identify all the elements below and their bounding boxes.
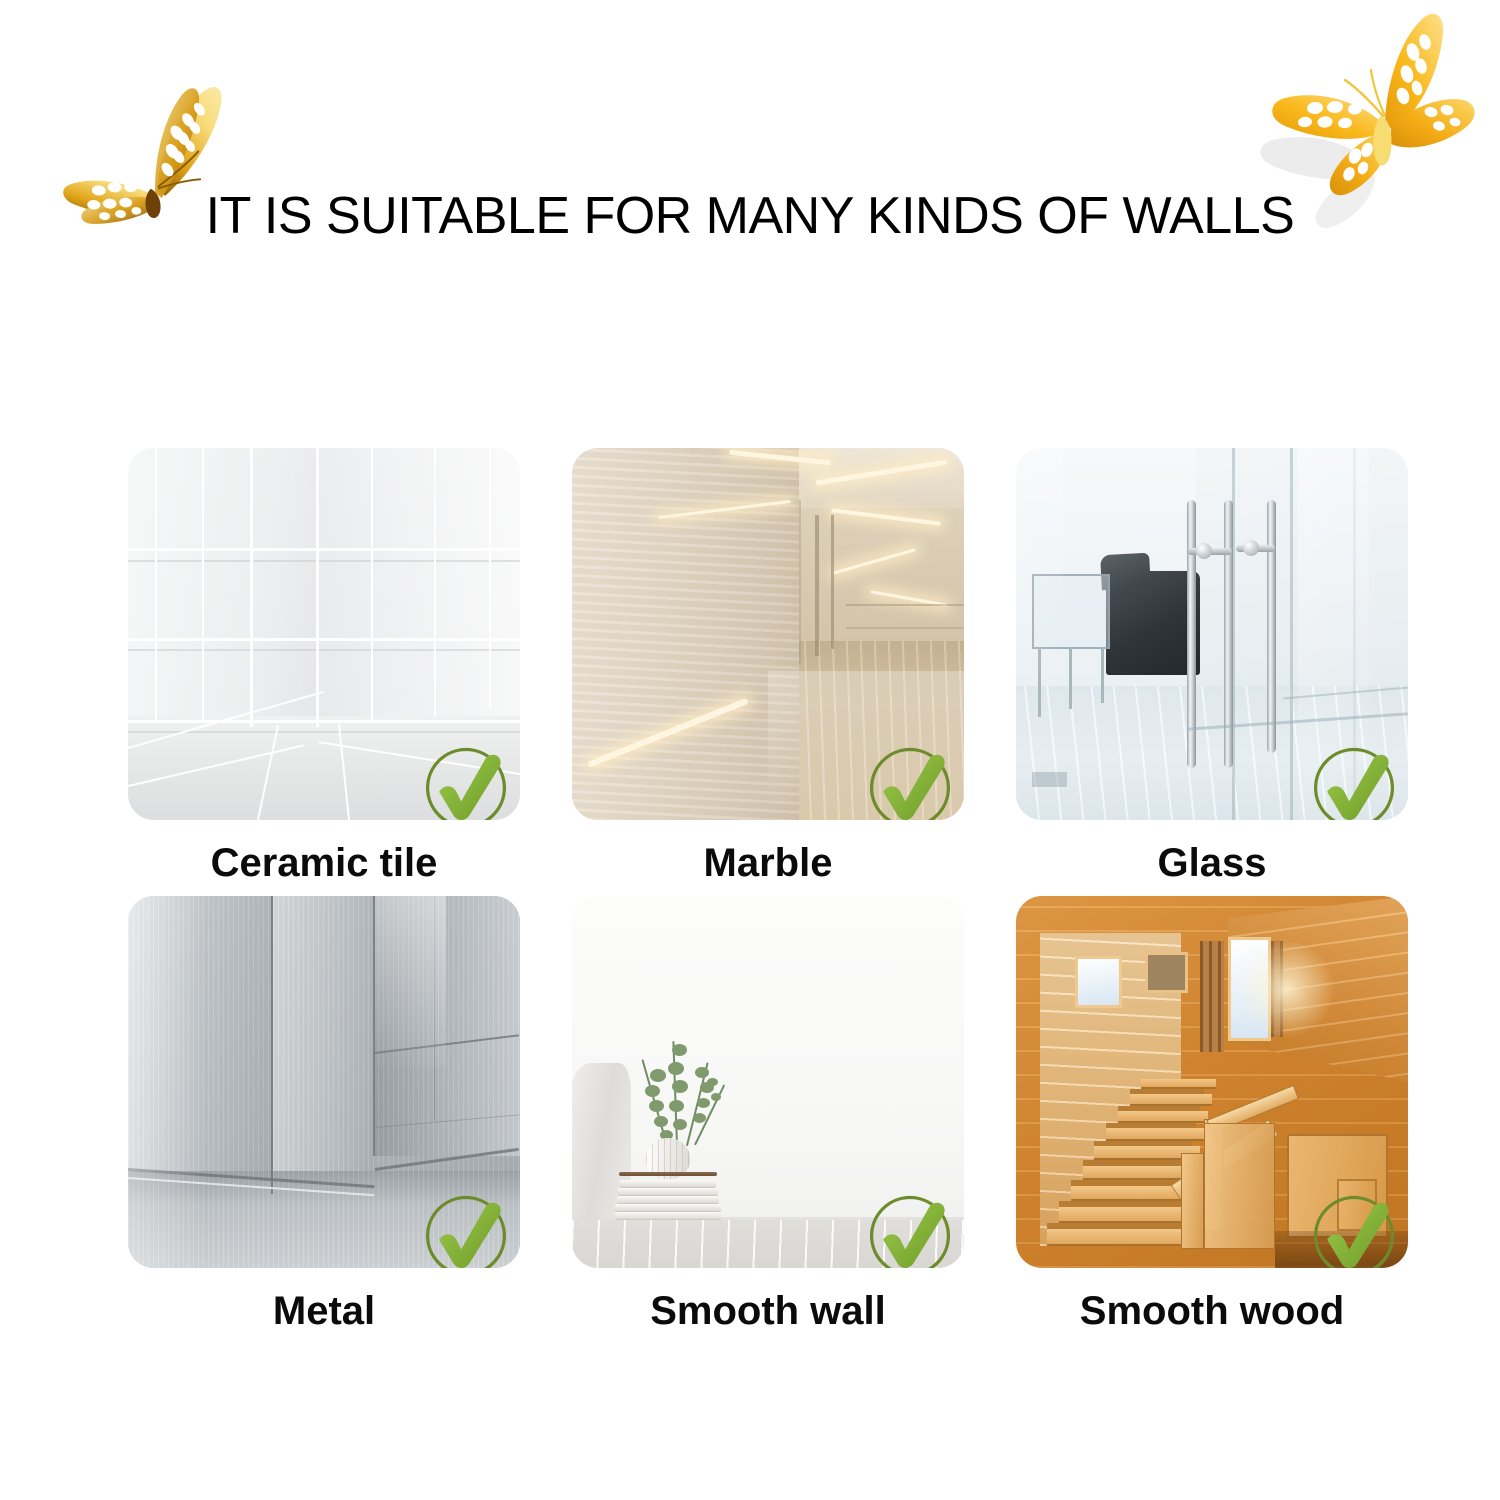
surface-card-glass[interactable]: Glass (1016, 448, 1408, 884)
surface-label-ceramic-tile: Ceramic tile (128, 842, 520, 884)
check-badge-smooth-wall (862, 1186, 958, 1268)
check-badge-smooth-wood (1306, 1186, 1402, 1268)
surface-thumbnail-metal (128, 896, 520, 1268)
surface-thumbnail-smooth-wood (1016, 896, 1408, 1268)
surface-thumbnail-smooth-wall (572, 896, 964, 1268)
check-badge-ceramic-tile (418, 738, 514, 820)
surface-card-marble[interactable]: Marble (572, 448, 964, 884)
check-badge-metal (418, 1186, 514, 1268)
surface-label-marble: Marble (572, 842, 964, 884)
surface-label-smooth-wood: Smooth wood (1016, 1290, 1408, 1332)
surface-card-metal[interactable]: Metal (128, 896, 520, 1332)
page-title: IT IS SUITABLE FOR MANY KINDS OF WALLS (0, 186, 1500, 246)
check-badge-glass (1306, 738, 1402, 820)
surfaces-grid: Ceramic tile (128, 448, 1375, 1332)
surface-card-ceramic-tile[interactable]: Ceramic tile (128, 448, 520, 884)
check-badge-marble (862, 738, 958, 820)
surface-card-smooth-wood[interactable]: Smooth wood (1016, 896, 1408, 1332)
surface-label-glass: Glass (1016, 842, 1408, 884)
surface-thumbnail-marble (572, 448, 964, 820)
surface-thumbnail-glass (1016, 448, 1408, 820)
surface-label-metal: Metal (128, 1290, 520, 1332)
surface-label-smooth-wall: Smooth wall (572, 1290, 964, 1332)
surface-card-smooth-wall[interactable]: Smooth wall (572, 896, 964, 1332)
infographic-page: IT IS SUITABLE FOR MANY KINDS OF WALLS (0, 0, 1500, 1500)
surface-thumbnail-ceramic-tile (128, 448, 520, 820)
